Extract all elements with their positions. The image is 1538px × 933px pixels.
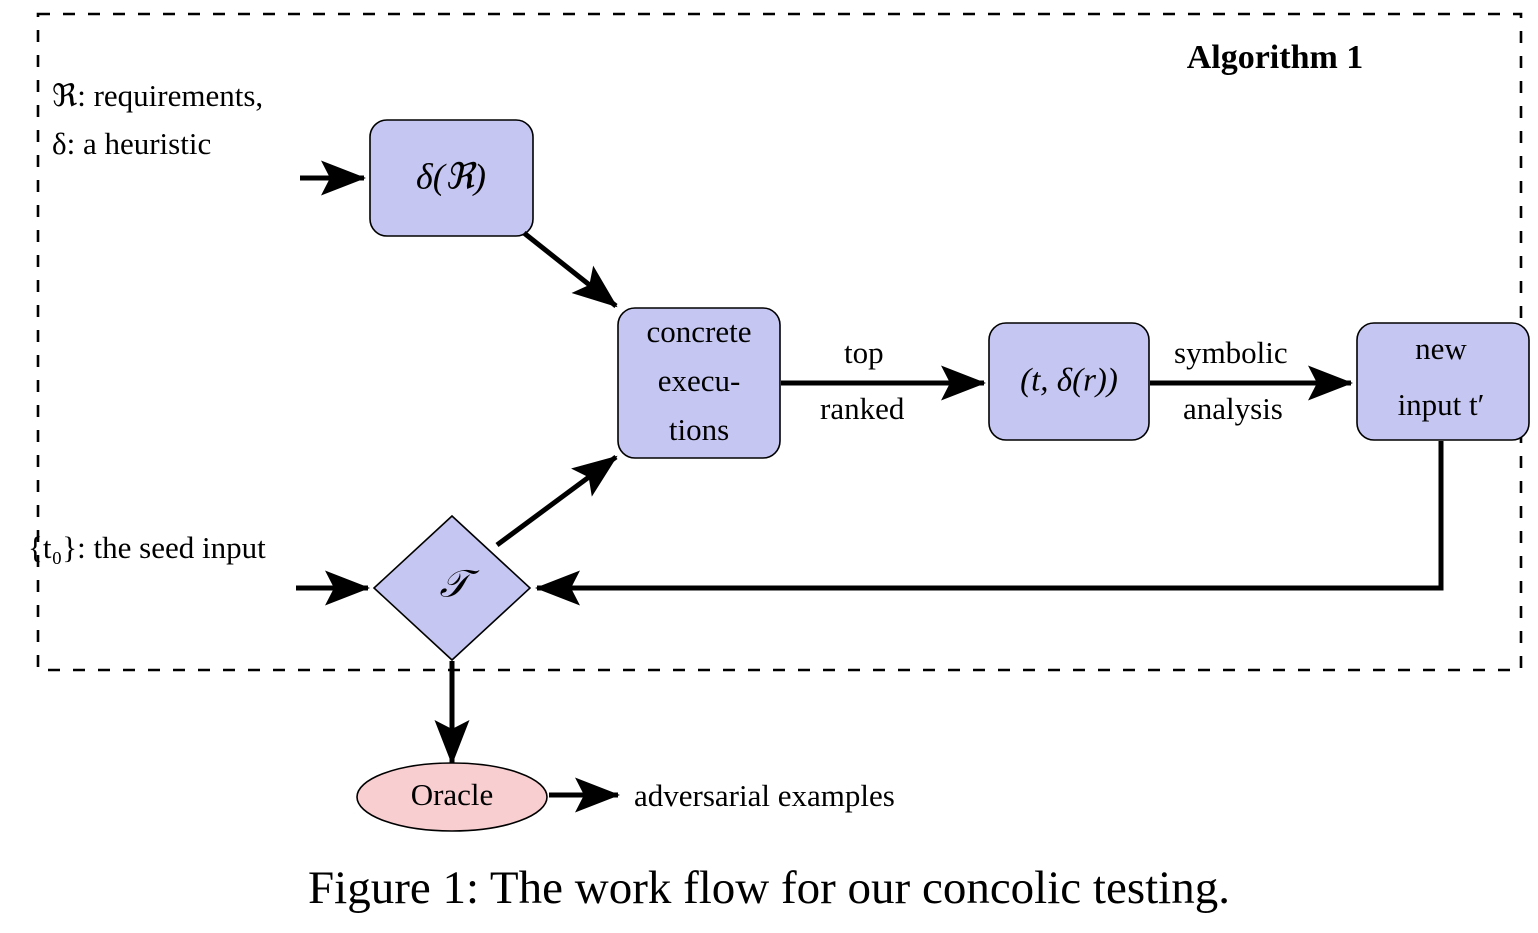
edge-label-symbolic-line1: symbolic (1174, 335, 1288, 370)
oracle-label: Oracle (411, 777, 494, 812)
figure-caption: Figure 1: The work flow for our concolic… (308, 862, 1230, 914)
edge-label-analysis-line2: analysis (1183, 391, 1283, 426)
figure-container: Algorithm 1 ℜ: requirements, δ: a heuris… (0, 0, 1538, 933)
heuristic-box-label: δ(ℜ) (416, 156, 486, 196)
edge-label-top-ranked-line2: ranked (820, 391, 905, 426)
arrow-heuristic-to-concrete (524, 233, 616, 306)
adversarial-examples-label: adversarial examples (634, 778, 895, 813)
concrete-box-label-line3: tions (669, 412, 729, 447)
algorithm-title: Algorithm 1 (1187, 39, 1364, 76)
node-new-input-box[interactable]: new input t′ (1357, 323, 1529, 440)
pair-box-label: (t, δ(r)) (1020, 363, 1118, 399)
node-oracle[interactable]: Oracle (357, 763, 547, 831)
concrete-box-label-line2: execu- (658, 363, 741, 398)
new-input-box-label-line2: input t′ (1398, 387, 1485, 422)
node-concrete-executions-box[interactable]: concrete execu- tions (618, 308, 780, 458)
node-heuristic-box[interactable]: δ(ℜ) (370, 120, 533, 236)
edge-label-top-ranked-line1: top (844, 335, 884, 370)
requirements-label-line1: ℜ: requirements, (52, 78, 263, 113)
arrow-feedback-to-decision (537, 441, 1441, 588)
seed-input-label: {t₀}: the seed input (28, 530, 266, 565)
heuristic-label-line2: δ: a heuristic (52, 126, 211, 161)
arrow-decision-to-concrete (497, 457, 616, 545)
new-input-box-label-line1: new (1415, 331, 1467, 366)
workflow-diagram: Algorithm 1 ℜ: requirements, δ: a heuris… (0, 0, 1538, 933)
node-pair-box[interactable]: (t, δ(r)) (989, 323, 1149, 440)
concrete-box-label-line1: concrete (647, 314, 752, 349)
